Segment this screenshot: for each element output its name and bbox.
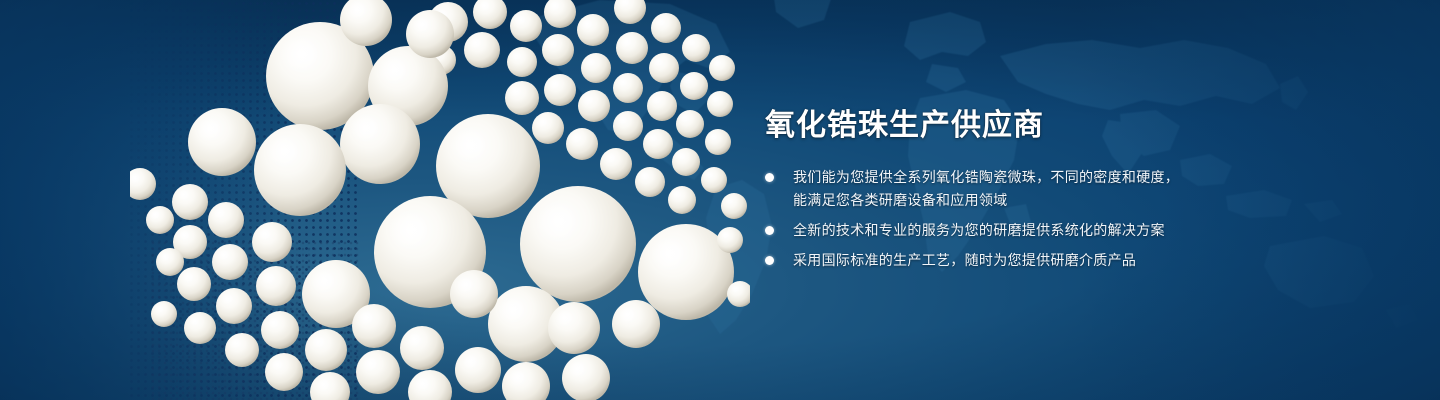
filled-circle-bullet-icon <box>765 256 774 265</box>
banner-text-block: 氧化锆珠生产供应商 我们能为您提供全系列氧化锆陶瓷微珠，不同的密度和硬度， 能满… <box>765 108 1365 272</box>
hero-banner: 氧化锆珠生产供应商 我们能为您提供全系列氧化锆陶瓷微珠，不同的密度和硬度， 能满… <box>0 0 1440 400</box>
list-item: 采用国际标准的生产工艺，随时为您提供研磨介质产品 <box>765 249 1365 272</box>
filled-circle-bullet-icon <box>765 173 774 182</box>
zirconia-beads-photo <box>130 0 750 400</box>
filled-circle-bullet-icon <box>765 226 774 235</box>
list-item-line-1: 我们能为您提供全系列氧化锆陶瓷微珠，不同的密度和硬度， <box>793 169 1179 185</box>
page-title: 氧化锆珠生产供应商 <box>765 108 1365 144</box>
feature-list: 我们能为您提供全系列氧化锆陶瓷微珠，不同的密度和硬度， 能满足您各类研磨设备和应… <box>765 166 1365 272</box>
list-item-line-1: 采用国际标准的生产工艺，随时为您提供研磨介质产品 <box>793 252 1136 268</box>
list-item-line-1: 全新的技术和专业的服务为您的研磨提供系统化的解决方案 <box>793 222 1165 238</box>
list-item-line-2: 能满足您各类研磨设备和应用领域 <box>793 189 1365 212</box>
list-item: 全新的技术和专业的服务为您的研磨提供系统化的解决方案 <box>765 219 1365 242</box>
list-item: 我们能为您提供全系列氧化锆陶瓷微珠，不同的密度和硬度， 能满足您各类研磨设备和应… <box>765 166 1365 212</box>
